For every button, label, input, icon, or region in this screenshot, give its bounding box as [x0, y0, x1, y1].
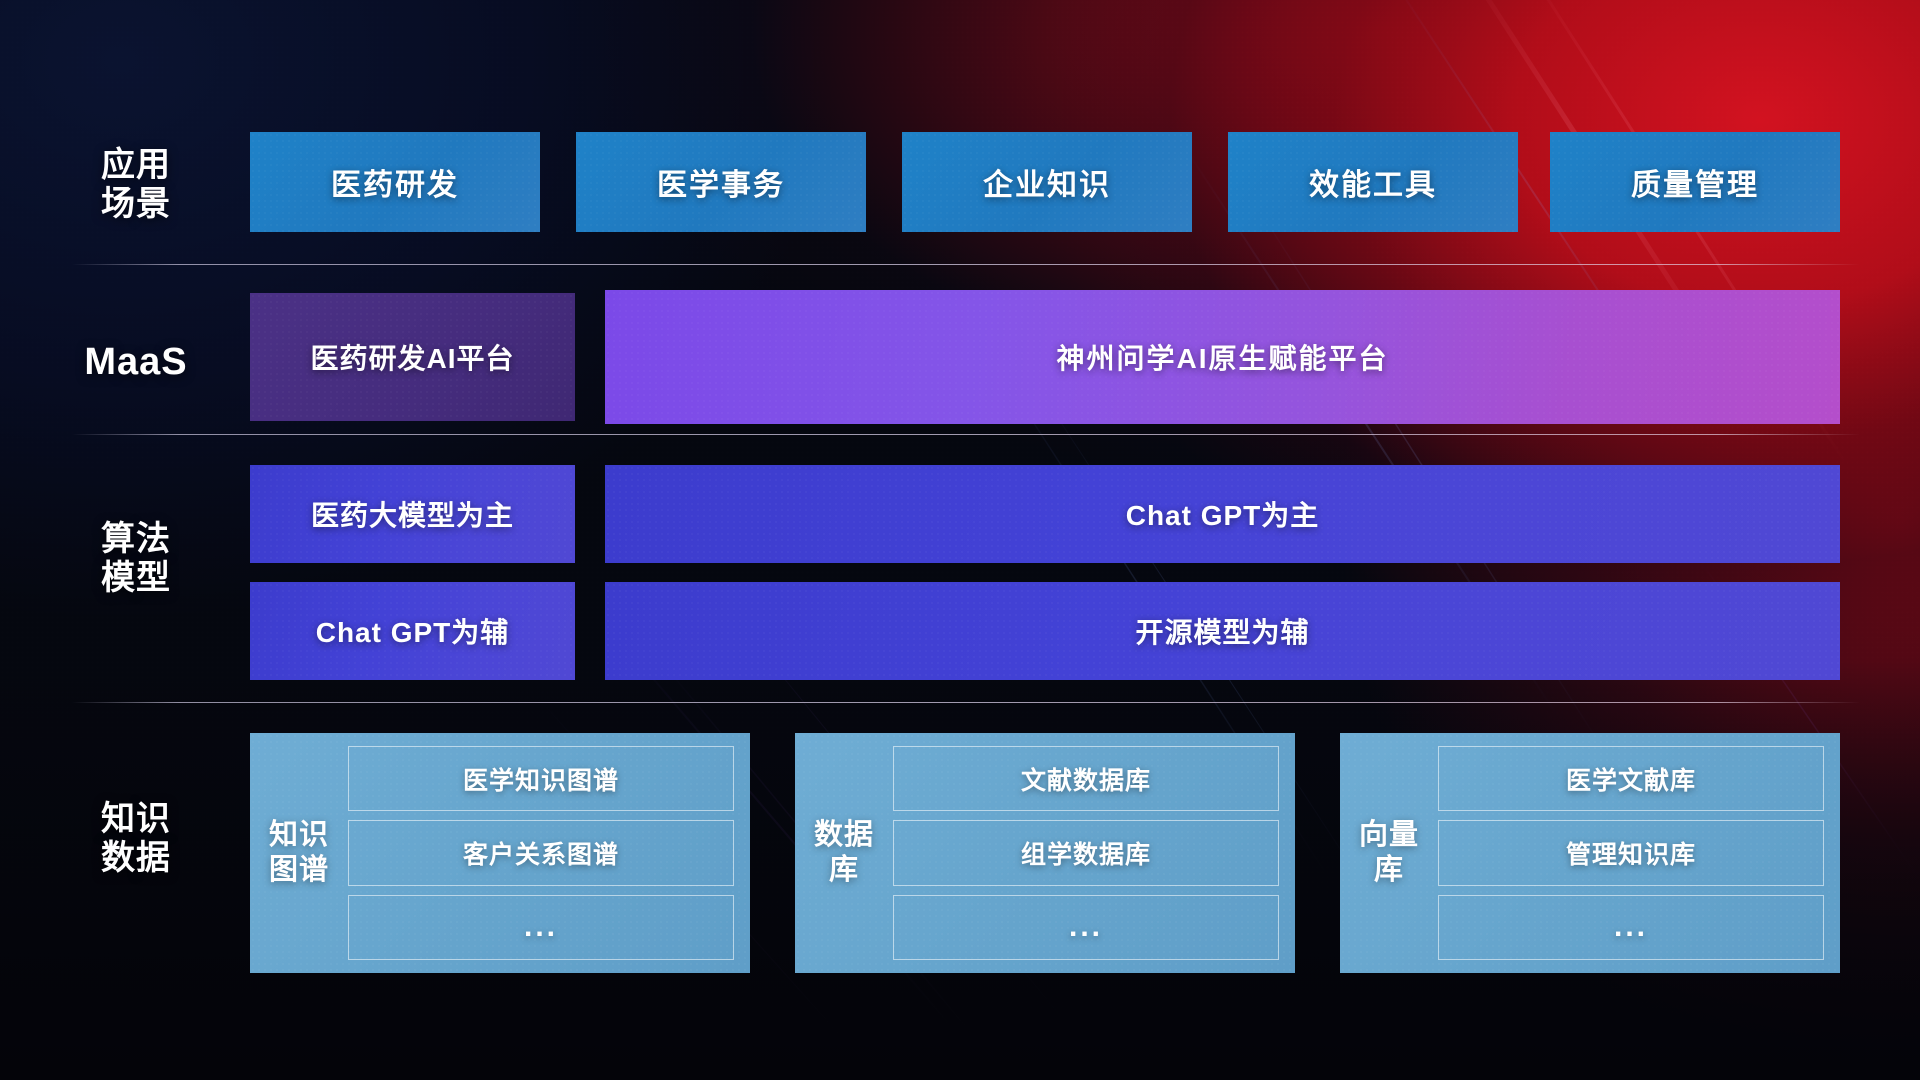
divider-application-maas: [72, 264, 1860, 265]
knowledge-panel-database-items: 文献数据库 组学数据库 ...: [881, 746, 1279, 960]
app-box-5-label: 质量管理: [1631, 160, 1759, 204]
knowledge-item-graph-3[interactable]: ...: [348, 895, 734, 960]
knowledge-panel-database-category: 数据库: [807, 818, 881, 889]
knowledge-panel-vector-items: 医学文献库 管理知识库 ...: [1426, 746, 1824, 960]
row-label-algorithm: 算法 模型: [72, 520, 200, 599]
app-box-5[interactable]: 质量管理: [1550, 132, 1840, 232]
app-box-3-label: 企业知识: [983, 160, 1111, 204]
app-box-2[interactable]: 医学事务: [576, 132, 866, 232]
knowledge-item-graph-1[interactable]: 医学知识图谱: [348, 746, 734, 811]
knowledge-panel-graph[interactable]: 知识图谱 医学知识图谱 客户关系图谱 ...: [250, 733, 750, 973]
app-box-1[interactable]: 医药研发: [250, 132, 540, 232]
algo-box-right-1-label: Chat GPT为主: [1126, 494, 1320, 534]
diagram-content: 应用 场景 医药研发 医学事务 企业知识 效能工具 质量管理 MaaS 医药研发…: [0, 0, 1920, 1080]
algo-box-left-2-label: Chat GPT为辅: [316, 611, 510, 651]
app-box-1-label: 医药研发: [331, 160, 459, 204]
knowledge-panel-database[interactable]: 数据库 文献数据库 组学数据库 ...: [795, 733, 1295, 973]
maas-box-drug-ai-platform-label: 医药研发AI平台: [310, 337, 514, 377]
architecture-diagram: 应用 场景 医药研发 医学事务 企业知识 效能工具 质量管理 MaaS 医药研发…: [0, 0, 1920, 1080]
knowledge-panel-vector[interactable]: 向量库 医学文献库 管理知识库 ...: [1340, 733, 1840, 973]
knowledge-panel-graph-category: 知识图谱: [262, 818, 336, 889]
knowledge-item-vector-1[interactable]: 医学文献库: [1438, 746, 1824, 811]
knowledge-item-vector-3[interactable]: ...: [1438, 895, 1824, 960]
divider-maas-algorithm: [72, 434, 1860, 435]
row-label-application: 应用 场景: [72, 146, 200, 225]
knowledge-item-vector-2[interactable]: 管理知识库: [1438, 820, 1824, 885]
knowledge-item-graph-2[interactable]: 客户关系图谱: [348, 820, 734, 885]
divider-algorithm-knowledge: [72, 702, 1860, 703]
algo-box-right-2-label: 开源模型为辅: [1135, 611, 1309, 651]
knowledge-panel-graph-items: 医学知识图谱 客户关系图谱 ...: [336, 746, 734, 960]
algo-box-left-1-label: 医药大模型为主: [311, 494, 514, 534]
algo-box-left-2[interactable]: Chat GPT为辅: [250, 582, 575, 680]
maas-box-shenzhou-platform-label: 神州问学AI原生赋能平台: [1056, 337, 1388, 377]
maas-box-shenzhou-platform[interactable]: 神州问学AI原生赋能平台: [605, 290, 1840, 424]
knowledge-item-database-1[interactable]: 文献数据库: [893, 746, 1279, 811]
app-box-4[interactable]: 效能工具: [1228, 132, 1518, 232]
app-box-4-label: 效能工具: [1309, 160, 1437, 204]
algo-box-left-1[interactable]: 医药大模型为主: [250, 465, 575, 563]
knowledge-item-database-2[interactable]: 组学数据库: [893, 820, 1279, 885]
knowledge-item-database-3[interactable]: ...: [893, 895, 1279, 960]
row-label-knowledge: 知识 数据: [72, 800, 200, 879]
algo-box-right-1[interactable]: Chat GPT为主: [605, 465, 1840, 563]
app-box-3[interactable]: 企业知识: [902, 132, 1192, 232]
app-box-2-label: 医学事务: [657, 160, 785, 204]
row-label-maas: MaaS: [72, 340, 200, 384]
knowledge-panel-vector-category: 向量库: [1352, 818, 1426, 889]
maas-box-drug-ai-platform[interactable]: 医药研发AI平台: [250, 293, 575, 421]
algo-box-right-2[interactable]: 开源模型为辅: [605, 582, 1840, 680]
